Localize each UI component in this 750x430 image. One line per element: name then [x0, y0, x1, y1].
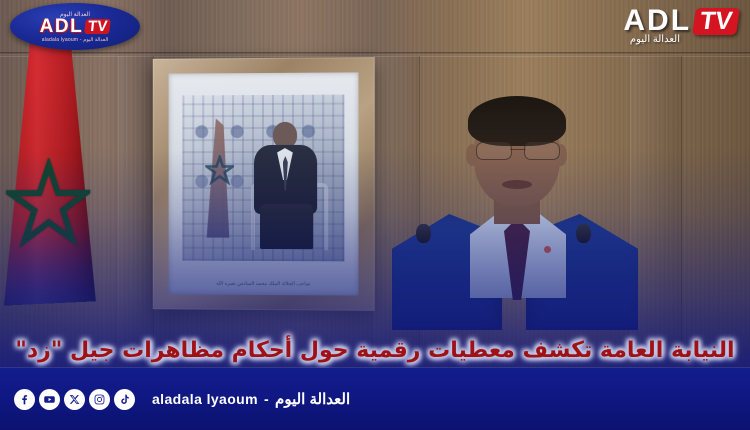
channel-logo-top-left[interactable]: العدالة اليوم ADL TV aladala lyaoum - ال… — [10, 3, 140, 50]
bottom-branding-bar: aladala lyaoum - العدالة اليوم — [0, 368, 750, 430]
portrait-mat: صاحب الجلالة الملك محمد السادس نصره الله — [169, 72, 359, 295]
logo-right-wordmark: ADL TV — [623, 6, 738, 36]
royal-portrait-frame: صاحب الجلالة الملك محمد السادس نصره الله — [153, 57, 375, 311]
logo-right-tv-badge: TV — [692, 8, 740, 35]
speaker-eyebrow-right — [528, 136, 558, 140]
news-headline: النيابة العامة تكشف معطيات رقمية حول أحك… — [0, 330, 750, 370]
microphone-head-left — [416, 224, 431, 243]
figure-head — [273, 121, 297, 148]
tiktok-icon[interactable] — [114, 389, 135, 410]
logo-right-arabic: العدالة اليوم — [630, 34, 680, 45]
speaker-mouth — [502, 180, 532, 189]
lapel-pin — [544, 246, 551, 253]
instagram-icon[interactable] — [89, 389, 110, 410]
brand-latin: aladala lyaoum — [152, 391, 258, 407]
microphone-head-right — [576, 224, 591, 243]
portrait-caption: صاحب الجلالة الملك محمد السادس نصره الله — [169, 280, 359, 287]
social-icon-row — [14, 389, 135, 410]
x-twitter-icon[interactable] — [64, 389, 85, 410]
news-still-frame: صاحب الجلالة الملك محمد السادس نصره الله… — [0, 0, 750, 430]
bar-divider — [0, 367, 750, 368]
figure-lap — [260, 204, 313, 249]
logo-left-tagline: aladala lyaoum - العدالة اليوم — [42, 37, 109, 43]
pentagram-star-icon — [6, 158, 90, 250]
channel-logo-top-right[interactable]: ADL TV العدالة اليوم — [623, 6, 738, 45]
portrait-flag-star-icon — [205, 155, 234, 185]
wall-seam-upper — [0, 52, 750, 55]
brand-arabic: العدالة اليوم — [275, 390, 350, 408]
eyeglasses-icon — [476, 142, 560, 158]
royal-portrait-photo — [182, 95, 344, 262]
brand-separator: - — [264, 391, 269, 407]
bottom-brand-text: aladala lyaoum - العدالة اليوم — [152, 390, 350, 408]
logo-left-wordmark: ADL TV — [40, 17, 111, 36]
glasses-lens-right — [524, 142, 560, 160]
seated-figure — [250, 121, 321, 254]
logo-right-adl-text: ADL — [623, 6, 691, 36]
logo-left-arabic: العدالة اليوم — [60, 11, 90, 18]
speaker-eyebrow-left — [478, 136, 508, 140]
glasses-lens-left — [476, 142, 512, 160]
facebook-icon[interactable] — [14, 389, 35, 410]
logo-left-tv-badge: TV — [84, 19, 111, 34]
moroccan-flag — [0, 38, 109, 306]
logo-left-adl-text: ADL — [40, 17, 84, 36]
youtube-icon[interactable] — [39, 389, 60, 410]
speaker-figure — [398, 96, 630, 328]
